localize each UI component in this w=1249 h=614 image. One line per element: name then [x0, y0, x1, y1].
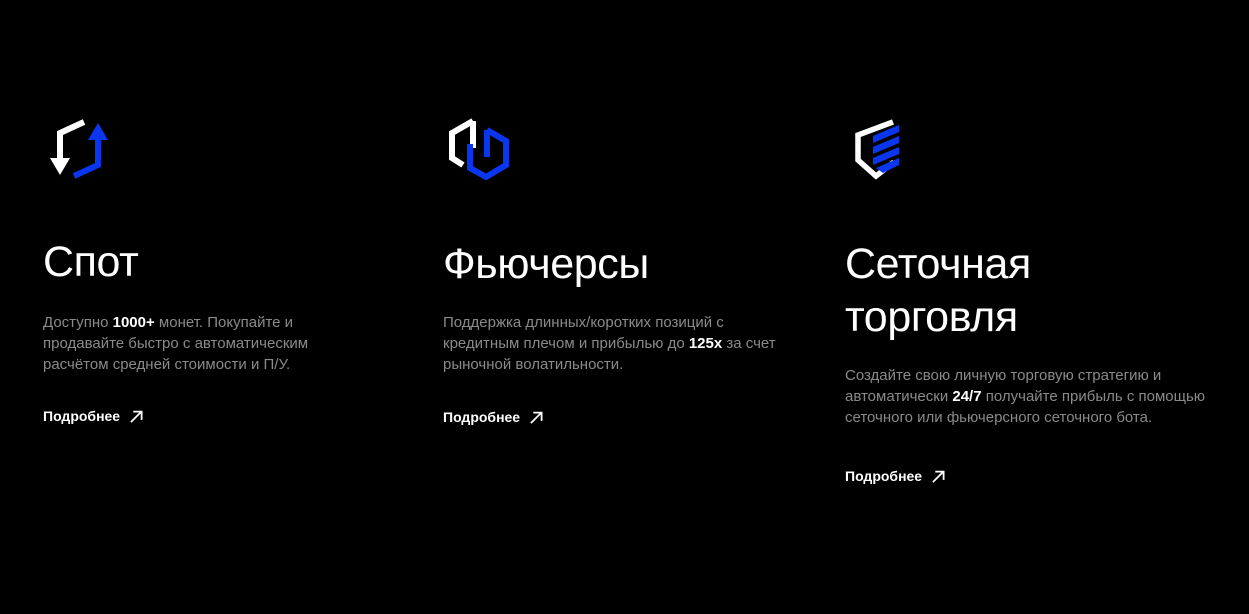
desc-part-highlight: 125x: [689, 335, 722, 352]
learn-more-link[interactable]: Подробнее: [443, 409, 544, 425]
feature-card-grid-trading[interactable]: Сеточная торговля Создайте свою личную т…: [802, 0, 1207, 486]
card-title: Спот: [43, 180, 400, 289]
learn-more-link[interactable]: Подробнее: [845, 468, 946, 484]
card-title: Сеточная торговля: [845, 180, 1207, 344]
card-title: Фьючерсы: [443, 180, 802, 291]
features-page: Спот Доступно 1000+ монет. Покупайте и п…: [0, 0, 1249, 614]
futures-interlocking-hexagons-icon: [443, 118, 515, 180]
spot-trading-hexagon-arrows-icon: [43, 118, 115, 180]
desc-part-highlight: 24/7: [952, 388, 981, 405]
desc-part-text: Доступно: [43, 314, 113, 331]
card-description: Доступно 1000+ монет. Покупайте и продав…: [43, 289, 357, 375]
grid-trading-hexagon-bars-icon: [845, 118, 917, 180]
card-description: Поддержка длинных/коротких позиций с кре…: [443, 291, 793, 375]
learn-more-label: Подробнее: [443, 409, 520, 425]
feature-card-futures[interactable]: Фьючерсы Поддержка длинных/коротких пози…: [400, 0, 802, 427]
feature-card-spot[interactable]: Спот Доступно 1000+ монет. Покупайте и п…: [0, 0, 400, 426]
learn-more-label: Подробнее: [43, 408, 120, 424]
card-description: Создайте свою личную торговую стратегию …: [845, 344, 1207, 428]
desc-part-highlight: 1000+: [113, 314, 155, 331]
features-row: Спот Доступно 1000+ монет. Покупайте и п…: [0, 0, 1249, 614]
arrow-up-right-icon: [129, 409, 144, 424]
learn-more-label: Подробнее: [845, 468, 922, 484]
desc-part-text: Поддержка длинных/коротких позиций с кре…: [443, 314, 724, 352]
arrow-up-right-icon: [931, 469, 946, 484]
learn-more-link[interactable]: Подробнее: [43, 408, 144, 424]
arrow-up-right-icon: [529, 410, 544, 425]
